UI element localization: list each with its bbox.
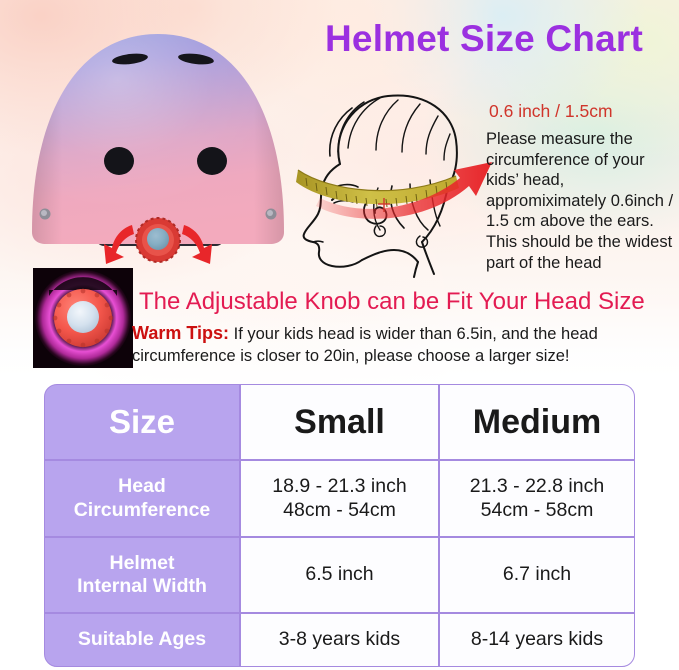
cell-medium-helmet-internal-width: 6.7 inch — [439, 537, 635, 613]
header-medium: Medium — [439, 384, 635, 460]
adjustable-knob-image — [33, 268, 133, 368]
size-chart-table: Size Small Medium Head Circumference 18.… — [44, 384, 635, 667]
helmet-adjuster-knob — [136, 218, 180, 262]
row-label-helmet-internal-width: Helmet Internal Width — [44, 537, 240, 613]
cell-small-helmet-internal-width: 6.5 inch — [240, 537, 439, 613]
warm-tips-text: Warm Tips: If your kids head is wider th… — [132, 322, 664, 367]
helmet-size-chart-page: Helmet Size Chart — [0, 0, 679, 670]
cell-medium-head-circumference: 21.3 - 22.8 inch 54cm - 58cm — [439, 460, 635, 537]
cell-medium-suitable-ages: 8-14 years kids — [439, 613, 635, 667]
table-row: Head Circumference 18.9 - 21.3 inch 48cm… — [44, 460, 635, 537]
helmet-product-image — [18, 18, 298, 273]
measure-instructions: Please measure the circumference of your… — [486, 129, 676, 273]
header-size: Size — [44, 384, 240, 460]
cell-small-head-circumference: 18.9 - 21.3 inch 48cm - 54cm — [240, 460, 439, 537]
table-header-row: Size Small Medium — [44, 384, 635, 460]
cell-small-suitable-ages: 3-8 years kids — [240, 613, 439, 667]
row-label-suitable-ages: Suitable Ages — [44, 613, 240, 667]
measure-offset-label: 0.6 inch / 1.5cm — [489, 101, 613, 122]
table-row: Helmet Internal Width 6.5 inch 6.7 inch — [44, 537, 635, 613]
adjustable-knob-headline: The Adjustable Knob can be Fit Your Head… — [139, 288, 645, 316]
head-measurement-diagram — [280, 78, 495, 278]
warm-tips-label: Warm Tips: — [132, 323, 229, 343]
header-small: Small — [240, 384, 439, 460]
table-row: Suitable Ages 3-8 years kids 8-14 years … — [44, 613, 635, 667]
row-label-head-circumference: Head Circumference — [44, 460, 240, 537]
page-title: Helmet Size Chart — [300, 18, 668, 60]
knob-core — [67, 301, 99, 333]
